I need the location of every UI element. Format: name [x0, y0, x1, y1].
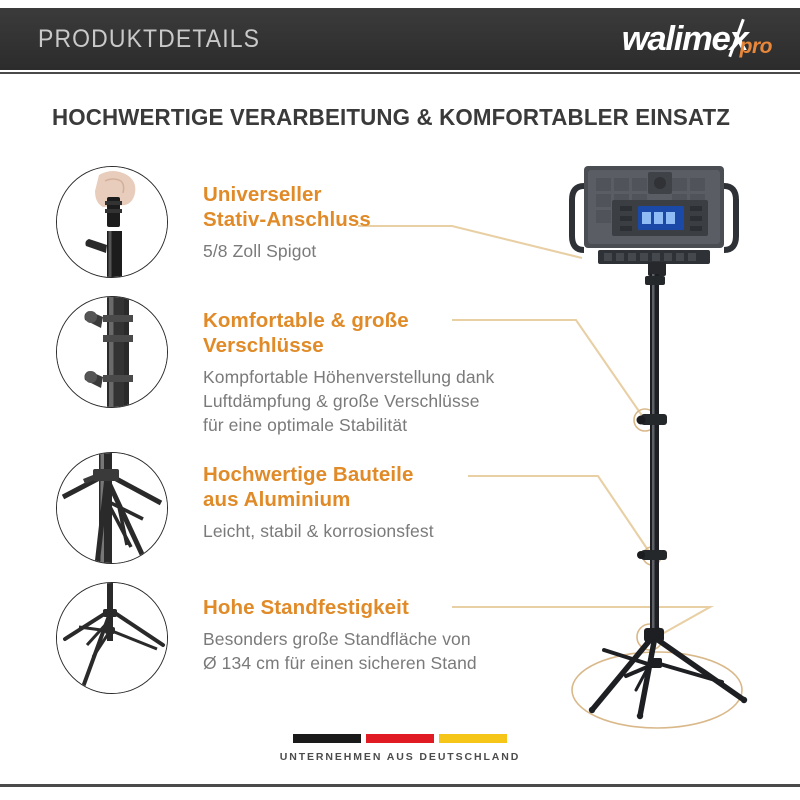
feature-subtitle: 5/8 Zoll Spigot [203, 239, 371, 263]
section-headline: HOCHWERTIGE VERARBEITUNG & KOMFORTABLER … [52, 104, 730, 131]
header-divider [0, 72, 800, 74]
brand-logo: walimex pro [623, 20, 778, 59]
german-flag-icon [293, 734, 507, 743]
panel-lcd-display [638, 206, 684, 230]
hand-holding-spigot-photo [56, 166, 168, 278]
light-stand-column [637, 274, 668, 636]
led-panel [572, 166, 736, 276]
callout-marker-2 [634, 409, 656, 431]
feature-text-stability: Hohe Standfestigkeit Besonders große Sta… [203, 595, 477, 675]
feature-title: Universeller Stativ-Anschluss [203, 182, 371, 232]
brand-suffix: pro [740, 35, 772, 59]
column-lock-lower [641, 550, 667, 560]
feature-subtitle: Besonders große Standfläche von Ø 134 cm… [203, 627, 477, 675]
feature-subtitle: Kompfortable Höhenverstellung dank Luftd… [203, 365, 494, 437]
tripod-legs [589, 628, 747, 719]
connector-line-4 [452, 607, 710, 634]
bottom-divider [0, 784, 800, 787]
product-details-infographic: PRODUKTDETAILS walimex pro HOCHWERTIGE V… [0, 0, 800, 800]
connector-line-1 [358, 226, 582, 258]
badge-caption: UNTERNEHMEN AUS DEUTSCHLAND [280, 751, 521, 763]
column-locks-photo [56, 296, 168, 408]
tripod-base-photo [56, 582, 168, 694]
feature-text-universal-mount: Universeller Stativ-Anschluss 5/8 Zoll S… [203, 182, 371, 263]
feature-title: Hohe Standfestigkeit [203, 595, 477, 620]
made-in-germany-badge: UNTERNEHMEN AUS DEUTSCHLAND [0, 734, 800, 763]
page-title: PRODUKTDETAILS [38, 25, 260, 54]
flag-bar-gold [439, 734, 507, 743]
feature-subtitle: Leicht, stabil & korrosionsfest [203, 519, 434, 543]
header-bar: PRODUKTDETAILS walimex pro [0, 8, 800, 70]
column-lock-upper [641, 414, 667, 425]
stand-footprint-ellipse [572, 652, 742, 728]
flag-bar-black [293, 734, 361, 743]
feature-title: Komfortable & große Verschlüsse [203, 308, 494, 358]
feature-text-aluminium-parts: Hochwertige Bauteile aus Aluminium Leich… [203, 462, 434, 543]
flag-bar-red [366, 734, 434, 743]
feature-text-comfortable-locks: Komfortable & große Verschlüsse Kompfort… [203, 308, 494, 437]
callout-marker-3 [643, 547, 661, 565]
feature-title: Hochwertige Bauteile aus Aluminium [203, 462, 434, 512]
aluminium-bracing-photo [56, 452, 168, 564]
callout-marker-4 [637, 624, 663, 650]
connector-line-3 [468, 476, 652, 556]
